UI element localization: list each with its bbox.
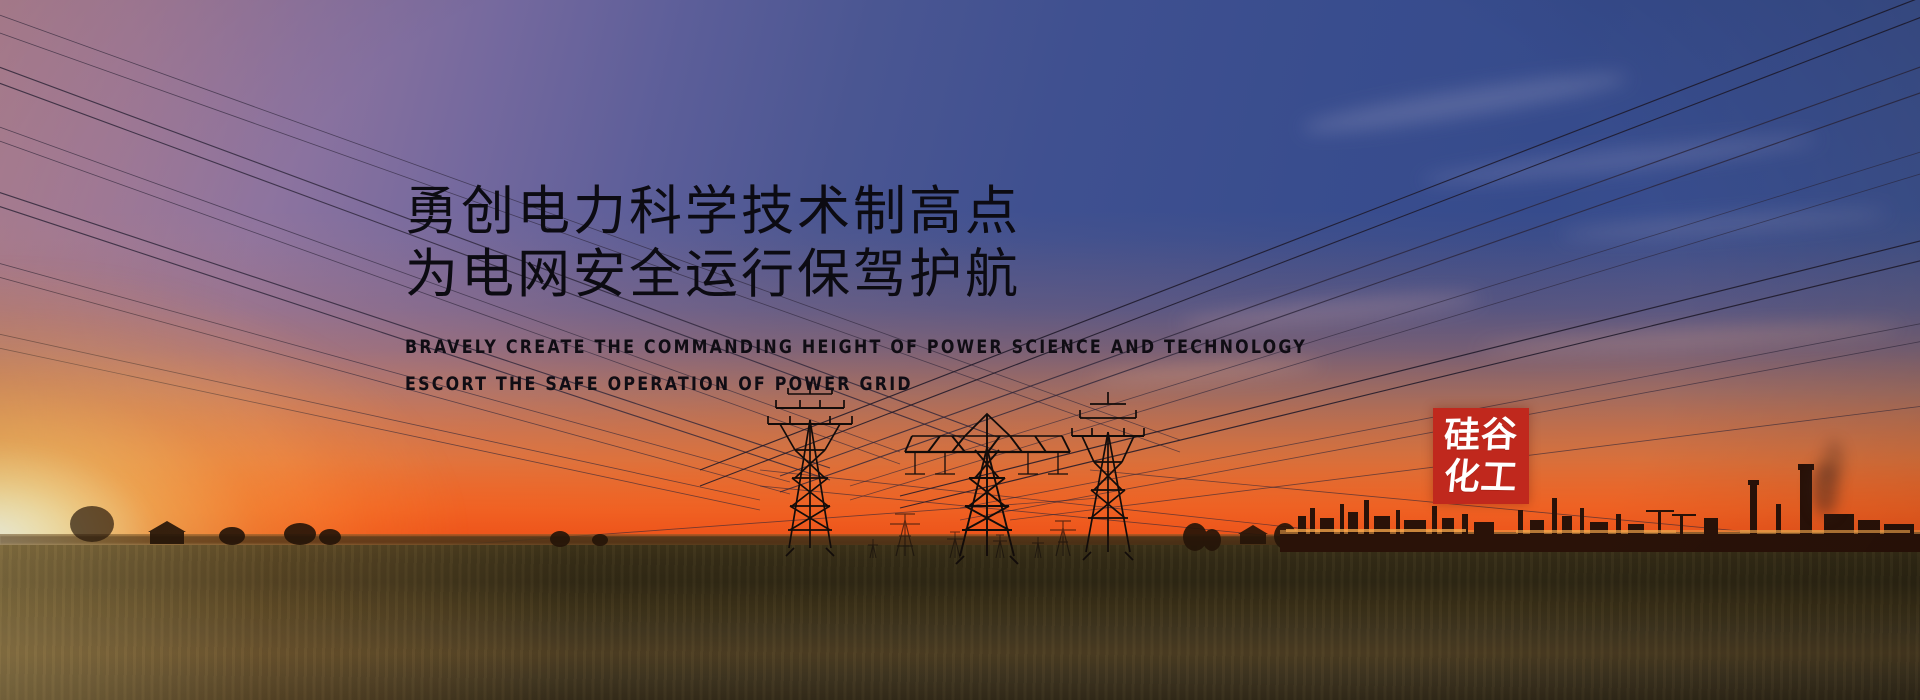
hero-banner: 勇创电力科学技术制高点 为电网安全运行保驾护航 BRAVELY CREATE T… xyxy=(0,0,1920,700)
field-furrows xyxy=(0,545,1920,700)
smoke-stack-plume xyxy=(1824,440,1844,482)
subheadline-block: BRAVELY CREATE THE COMMANDING HEIGHT OF … xyxy=(405,329,1405,403)
headline-line-2: 为电网安全运行保驾护航 xyxy=(405,243,1405,306)
subheadline-line-1: BRAVELY CREATE THE COMMANDING HEIGHT OF … xyxy=(405,329,1335,366)
farm-field xyxy=(0,545,1920,700)
logo-text-line-2: 化工 xyxy=(1442,455,1520,498)
logo-text-line-1: 硅谷 xyxy=(1443,413,1519,457)
banner-copy: 勇创电力科学技术制高点 为电网安全运行保驾护航 BRAVELY CREATE T… xyxy=(405,180,1405,403)
subheadline-line-2: ESCORT THE SAFE OPERATION OF POWER GRID xyxy=(405,366,1335,403)
headline-line-1: 勇创电力科学技术制高点 xyxy=(405,180,1405,243)
company-logo-stamp[interactable]: 硅谷 化工 xyxy=(1433,408,1529,504)
